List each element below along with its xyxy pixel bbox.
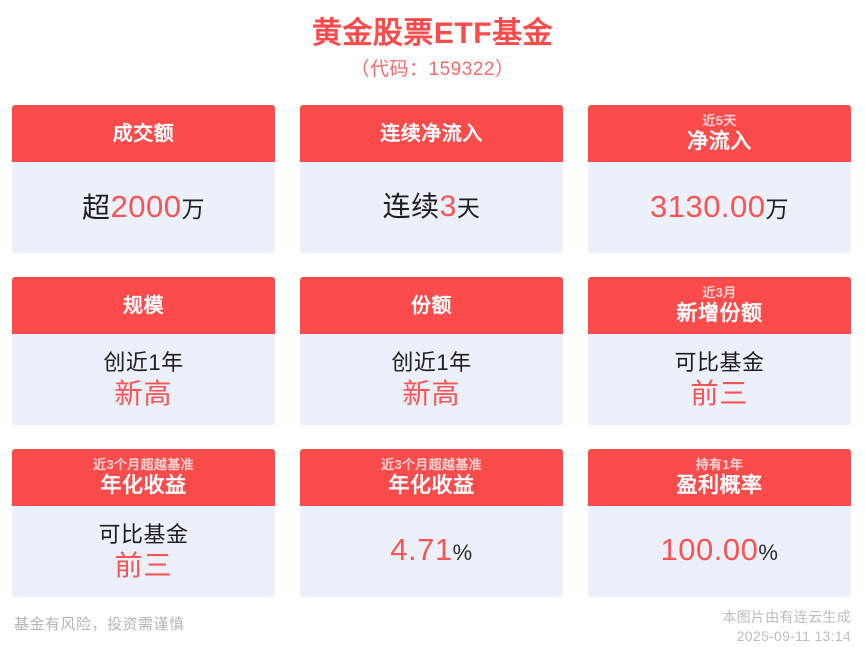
metric-card-scale[interactable]: 规模 创近1年 新高	[12, 277, 275, 425]
card-header: 连续净流入	[300, 105, 563, 162]
card-header: 近3个月超越基准 年化收益	[300, 449, 563, 506]
metric-card-consecutive-net-inflow[interactable]: 连续净流入 连续3天	[300, 105, 563, 253]
card-body: 创近1年 新高	[12, 334, 275, 425]
card-body: 超2000万	[12, 162, 275, 253]
card-header-subtitle: 近3个月超越基准	[93, 457, 194, 473]
card-header-title: 净流入	[687, 129, 752, 155]
value-number: 3	[440, 190, 457, 223]
card-body: 100.00%	[588, 506, 851, 597]
card-body: 3130.00万	[588, 162, 851, 253]
card-row-3: 近3个月超越基准 年化收益 可比基金 前三 近3个月超越基准 年化收益 4.71…	[12, 449, 853, 597]
card-header-title: 年化收益	[389, 473, 475, 499]
card-header-title: 连续净流入	[380, 121, 483, 147]
card-value: 4.71%	[390, 533, 472, 570]
card-header-title: 年化收益	[101, 473, 187, 499]
card-value-line1: 创近1年	[391, 348, 471, 377]
card-header: 近5天 净流入	[588, 105, 851, 162]
card-header-title: 新增份额	[677, 301, 763, 327]
card-value: 3130.00万	[650, 190, 789, 226]
metric-card-net-inflow-5d[interactable]: 近5天 净流入 3130.00万	[588, 105, 851, 253]
value-prefix: 连续	[383, 191, 440, 222]
card-row-1: 成交额 超2000万 连续净流入 连续3天 近5天 净流入	[12, 105, 853, 253]
card-body: 创近1年 新高	[300, 334, 563, 425]
value-unit: %	[453, 540, 473, 565]
card-header: 份额	[300, 277, 563, 334]
card-header-title: 成交额	[113, 121, 175, 147]
value-unit: 天	[457, 195, 481, 221]
metric-card-turnover[interactable]: 成交额 超2000万	[12, 105, 275, 253]
card-value: 超2000万	[82, 190, 205, 226]
card-body: 4.71%	[300, 506, 563, 597]
card-header-subtitle: 持有1年	[696, 457, 743, 473]
value-unit: 万	[766, 196, 790, 222]
card-header: 近3月 新增份额	[588, 277, 851, 334]
fund-code: （代码：159322）	[0, 56, 865, 84]
card-row-2: 规模 创近1年 新高 份额 创近1年 新高 近3月 新增	[12, 277, 853, 425]
card-header-title: 盈利概率	[677, 473, 763, 499]
value-unit: %	[758, 540, 778, 565]
card-value-line1: 创近1年	[103, 348, 183, 377]
card-value-line1: 可比基金	[674, 348, 764, 377]
metric-card-excess-annualized-rank[interactable]: 近3个月超越基准 年化收益 可比基金 前三	[12, 449, 275, 597]
metric-card-grid: 成交额 超2000万 连续净流入 连续3天 近5天 净流入	[12, 105, 853, 597]
card-header: 成交额	[12, 105, 275, 162]
card-value-line2: 新高	[402, 377, 460, 411]
card-value-line2: 新高	[114, 377, 172, 411]
card-value: 连续3天	[383, 190, 481, 225]
credit-timestamp: 2025-09-11 13:14	[722, 627, 851, 646]
card-header-subtitle: 近5天	[702, 113, 736, 129]
card-value-line2: 前三	[690, 377, 748, 411]
risk-disclaimer: 基金有风险，投资需谨慎	[14, 600, 185, 636]
card-header-title: 份额	[411, 293, 452, 319]
card-body: 连续3天	[300, 162, 563, 253]
generation-credit: 本图片由有连云生成 2025-09-11 13:14	[722, 600, 851, 646]
value-number: 100.00	[661, 532, 759, 567]
metric-card-shares[interactable]: 份额 创近1年 新高	[300, 277, 563, 425]
card-value: 100.00%	[661, 533, 779, 570]
card-header: 近3个月超越基准 年化收益	[12, 449, 275, 506]
value-number: 3130.00	[650, 189, 766, 224]
metric-card-profit-probability-1y[interactable]: 持有1年 盈利概率 100.00%	[588, 449, 851, 597]
header: 黄金股票ETF基金 （代码：159322）	[0, 0, 865, 84]
infographic-page: 黄金股票ETF基金 （代码：159322） 成交额 超2000万 连续净流入 连…	[0, 0, 865, 647]
page-title: 黄金股票ETF基金	[0, 14, 865, 54]
footer: 基金有风险，投资需谨慎 本图片由有连云生成 2025-09-11 13:14	[0, 600, 865, 647]
metric-card-new-shares-3m[interactable]: 近3月 新增份额 可比基金 前三	[588, 277, 851, 425]
card-header: 规模	[12, 277, 275, 334]
card-body: 可比基金 前三	[588, 334, 851, 425]
value-prefix: 超	[82, 192, 111, 223]
card-header-subtitle: 近3月	[702, 285, 736, 301]
card-body: 可比基金 前三	[12, 506, 275, 597]
value-unit: 万	[181, 196, 205, 222]
card-header-title: 规模	[123, 293, 164, 319]
card-header: 持有1年 盈利概率	[588, 449, 851, 506]
value-number: 2000	[111, 189, 182, 224]
metric-card-excess-annualized-value[interactable]: 近3个月超越基准 年化收益 4.71%	[300, 449, 563, 597]
value-number: 4.71	[390, 532, 452, 567]
card-value-line2: 前三	[114, 549, 172, 583]
credit-source: 本图片由有连云生成	[722, 608, 851, 627]
card-header-subtitle: 近3个月超越基准	[381, 457, 482, 473]
card-value-line1: 可比基金	[98, 520, 188, 549]
